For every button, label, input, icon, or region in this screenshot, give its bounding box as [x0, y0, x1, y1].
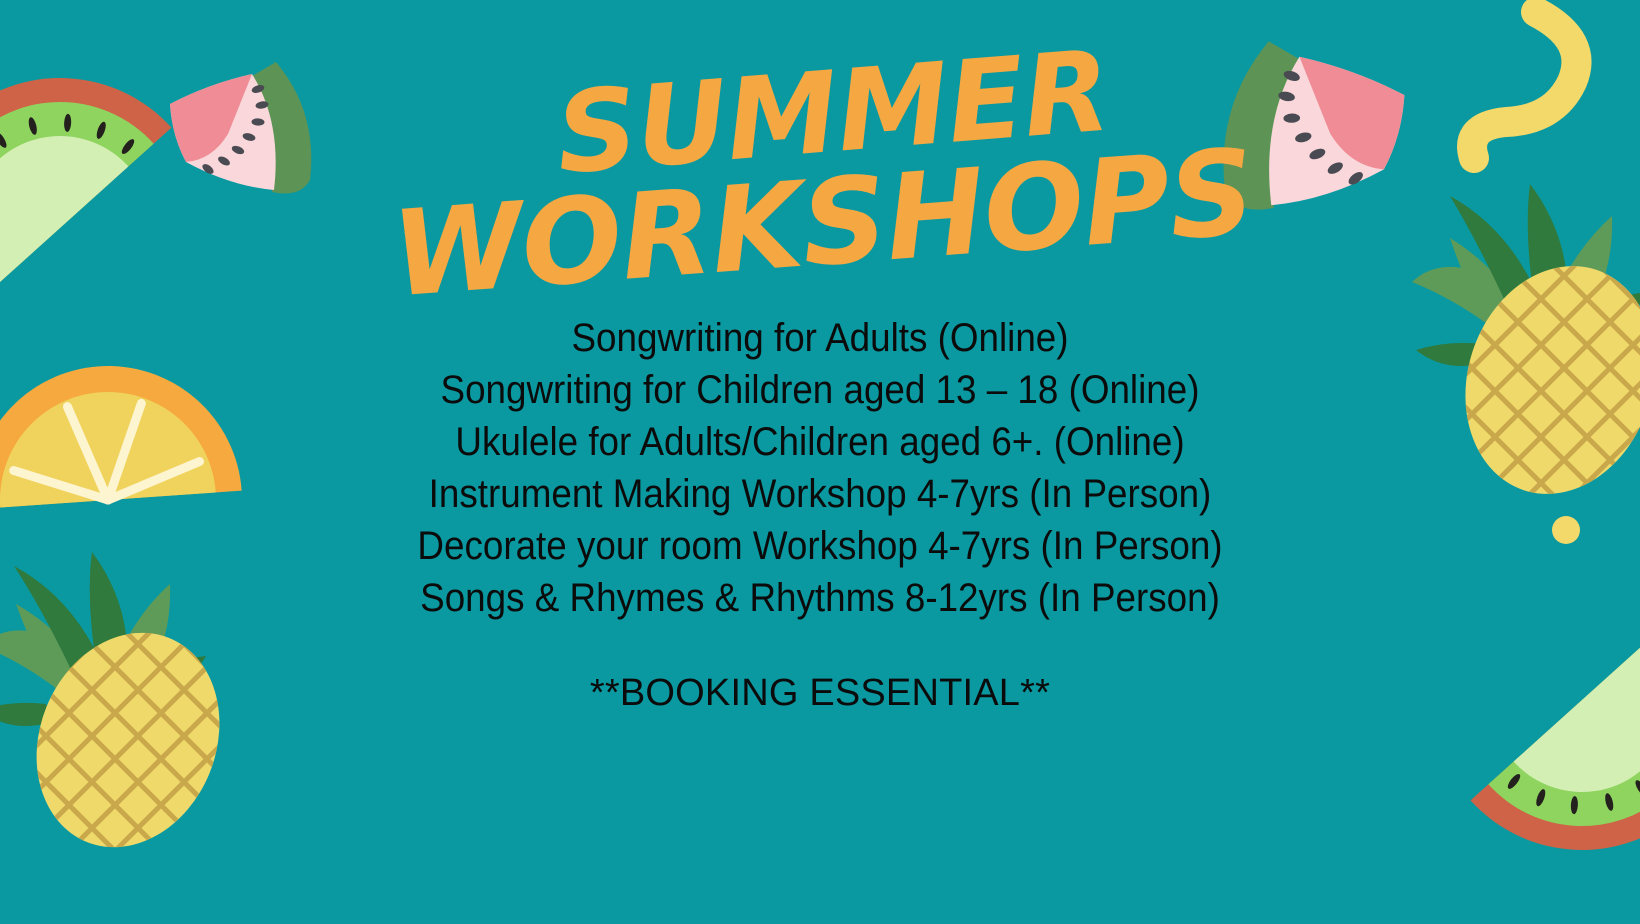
workshop-item: Songwriting for Children aged 13 – 18 (O… — [66, 364, 1575, 416]
workshop-item: Decorate your room Workshop 4-7yrs (In P… — [66, 520, 1575, 572]
poster-title: SUMMER WORKSHOPS — [0, 62, 1640, 278]
workshop-item: Songs & Rhymes & Rhythms 8-12yrs (In Per… — [66, 572, 1575, 624]
workshop-list: Songwriting for Adults (Online) Songwrit… — [0, 312, 1640, 624]
poster-content: SUMMER WORKSHOPS Songwriting for Adults … — [0, 0, 1640, 924]
workshop-item: Songwriting for Adults (Online) — [66, 312, 1575, 364]
workshop-item: Ukulele for Adults/Children aged 6+. (On… — [66, 416, 1575, 468]
workshop-item: Instrument Making Workshop 4-7yrs (In Pe… — [66, 468, 1575, 520]
booking-essential-note: **BOOKING ESSENTIAL** — [0, 672, 1640, 715]
poster-canvas: SUMMER WORKSHOPS Songwriting for Adults … — [0, 0, 1640, 924]
